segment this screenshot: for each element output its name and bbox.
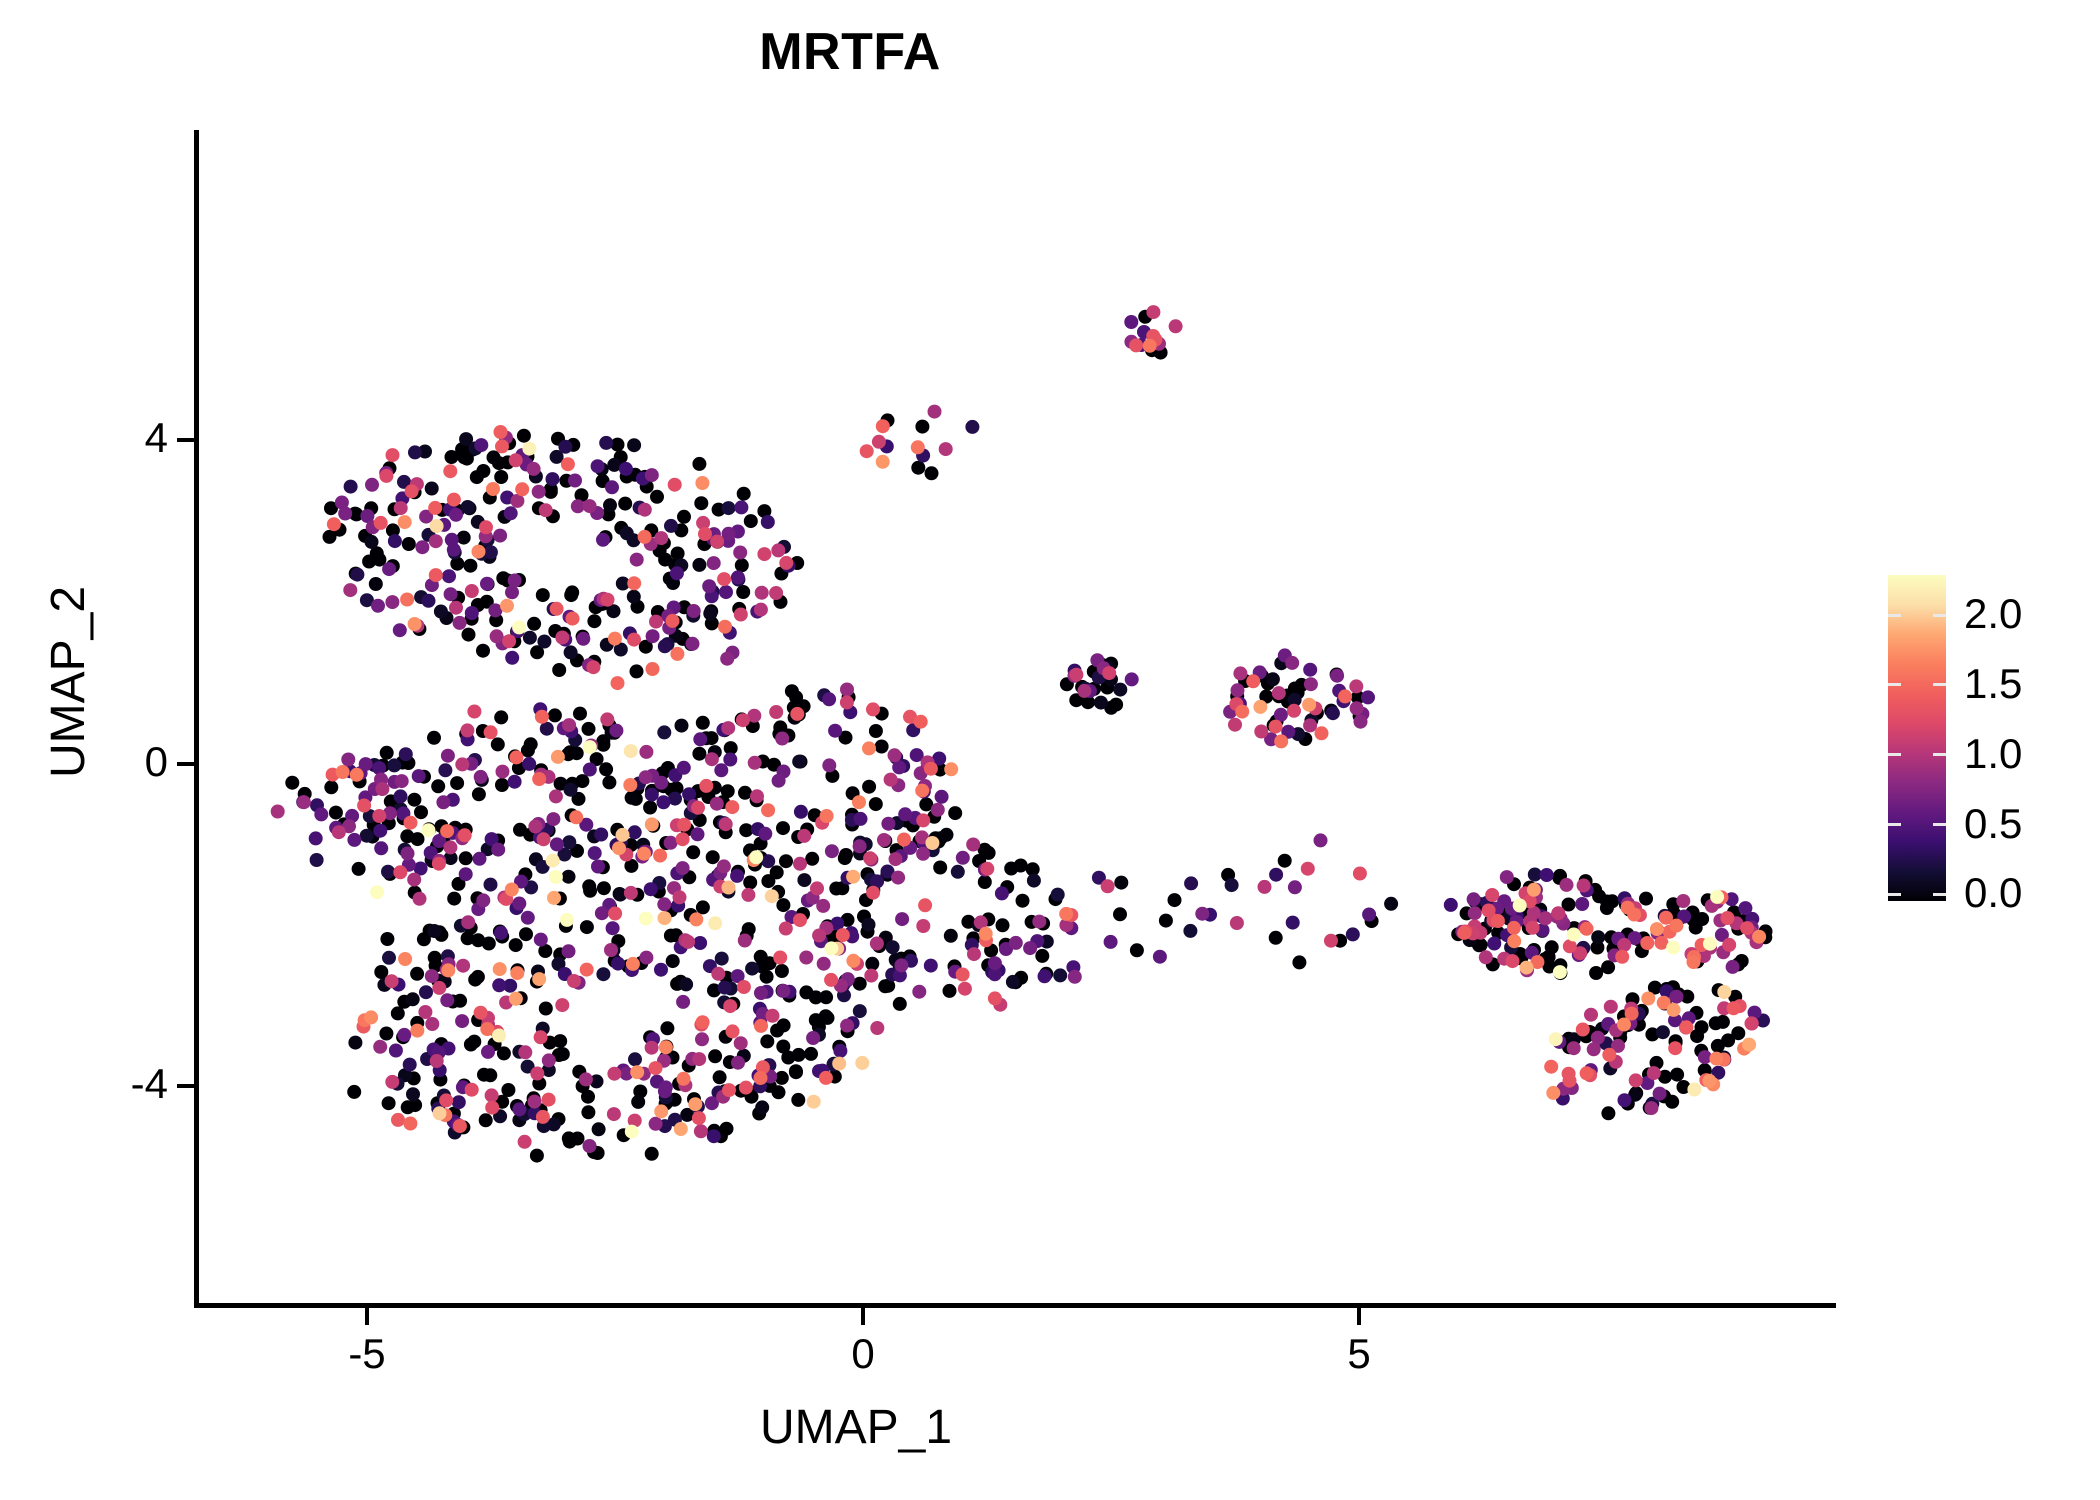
scatter-point	[638, 530, 652, 544]
scatter-point	[350, 768, 364, 782]
scatter-point	[508, 574, 522, 588]
scatter-point	[360, 829, 374, 843]
scatter-point	[443, 464, 457, 478]
scatter-point	[539, 1002, 553, 1016]
scatter-point	[596, 967, 610, 981]
scatter-point	[718, 620, 732, 634]
scatter-point	[395, 774, 409, 788]
scatter-point	[686, 637, 700, 651]
scatter-point	[522, 757, 536, 771]
scatter-point	[412, 769, 426, 783]
scatter-point	[491, 843, 505, 857]
scatter-point	[1670, 990, 1684, 1004]
scatter-point	[612, 841, 626, 855]
scatter-point	[722, 527, 736, 541]
scatter-point	[1513, 899, 1527, 913]
scatter-point	[717, 572, 731, 586]
scatter-point	[812, 929, 826, 943]
scatter-point	[1016, 894, 1030, 908]
scatter-point	[583, 499, 597, 513]
scatter-point	[754, 986, 768, 1000]
scatter-point	[455, 757, 469, 771]
scatter-point	[350, 568, 364, 582]
scatter-point	[776, 898, 790, 912]
scatter-point	[576, 632, 590, 646]
scatter-point	[493, 529, 507, 543]
scatter-point	[564, 783, 578, 797]
scatter-point	[705, 752, 719, 766]
scatter-point	[644, 882, 658, 896]
scatter-point	[457, 531, 471, 545]
x-tick-0	[861, 1308, 865, 1325]
scatter-point	[1602, 1048, 1616, 1062]
scatter-point	[1567, 1041, 1581, 1055]
scatter-point	[447, 892, 461, 906]
scatter-point	[458, 828, 472, 842]
scatter-point	[461, 500, 475, 514]
scatter-point	[1479, 950, 1493, 964]
scatter-point	[805, 852, 819, 866]
scatter-point	[555, 998, 569, 1012]
scatter-point	[1506, 954, 1520, 968]
scatter-point	[687, 604, 701, 618]
scatter-point	[535, 710, 549, 724]
scatter-point	[833, 1044, 847, 1058]
scatter-point	[519, 927, 533, 941]
scatter-point	[696, 900, 710, 914]
scatter-point	[449, 601, 463, 615]
scatter-point	[493, 962, 507, 976]
scatter-point	[573, 707, 587, 721]
scatter-point	[405, 484, 419, 498]
scatter-point	[372, 809, 386, 823]
scatter-point	[494, 710, 508, 724]
scatter-point	[866, 702, 880, 716]
scatter-point	[603, 498, 617, 512]
scatter-point	[1745, 1016, 1759, 1030]
scatter-point	[1621, 901, 1635, 915]
scatter-point	[792, 1048, 806, 1062]
scatter-point	[628, 1052, 642, 1066]
scatter-point	[931, 803, 945, 817]
scatter-point	[394, 789, 408, 803]
scatter-point	[430, 1054, 444, 1068]
scatter-point	[825, 844, 839, 858]
scatter-point	[866, 886, 880, 900]
colorbar-tick-1.0-right	[1933, 753, 1946, 756]
scatter-point	[509, 750, 523, 764]
scatter-point	[721, 721, 735, 735]
scatter-point	[564, 645, 578, 659]
scatter-point	[532, 485, 546, 499]
scatter-point	[666, 614, 680, 628]
scatter-point	[606, 921, 620, 935]
scatter-point	[853, 977, 867, 991]
scatter-point	[536, 1110, 550, 1124]
scatter-point	[863, 851, 877, 865]
scatter-point	[474, 438, 488, 452]
scatter-point	[357, 799, 371, 813]
scatter-point	[736, 713, 750, 727]
scatter-point	[1346, 927, 1360, 941]
scatter-point	[735, 558, 749, 572]
scatter-point	[1549, 1032, 1563, 1046]
scatter-point	[1068, 970, 1082, 984]
scatter-point	[527, 617, 541, 631]
scatter-point	[657, 897, 671, 911]
scatter-point	[928, 405, 942, 419]
scatter-point	[570, 746, 584, 760]
scatter-point	[391, 1113, 405, 1127]
scatter-point	[1687, 955, 1701, 969]
scatter-point	[599, 762, 613, 776]
scatter-point	[718, 981, 732, 995]
scatter-point	[1551, 906, 1565, 920]
scatter-point	[757, 547, 771, 561]
scatter-point	[1384, 897, 1398, 911]
scatter-point	[726, 1024, 740, 1038]
scatter-point	[646, 662, 660, 676]
scatter-point	[703, 607, 717, 621]
colorbar-label-1.0: 1.0	[1964, 733, 2022, 775]
scatter-point	[594, 828, 608, 842]
scatter-point	[1526, 921, 1540, 935]
scatter-point	[658, 911, 672, 925]
scatter-point	[1129, 338, 1143, 352]
scatter-point	[601, 593, 615, 607]
scatter-point	[699, 779, 713, 793]
scatter-point	[988, 991, 1002, 1005]
scatter-point	[627, 633, 641, 647]
scatter-point	[532, 772, 546, 786]
scatter-point	[710, 797, 724, 811]
scatter-point	[1006, 975, 1020, 989]
scatter-point	[717, 859, 731, 873]
scatter-point	[441, 749, 455, 763]
scatter-point	[730, 869, 744, 883]
scatter-point	[1727, 1001, 1741, 1015]
scatter-point	[631, 1095, 645, 1109]
scatter-point	[911, 461, 925, 475]
scatter-point	[492, 978, 506, 992]
scatter-point	[625, 1125, 639, 1139]
scatter-point	[720, 652, 734, 666]
scatter-point	[761, 854, 775, 868]
scatter-point	[1153, 950, 1167, 964]
scatter-point	[754, 603, 768, 617]
scatter-point	[625, 791, 639, 805]
scatter-point	[432, 981, 446, 995]
scatter-point	[1304, 677, 1318, 691]
scatter-point	[1717, 985, 1731, 999]
scatter-point	[832, 1057, 846, 1071]
scatter-point	[809, 990, 823, 1004]
scatter-point	[779, 556, 793, 570]
scatter-point	[444, 587, 458, 601]
scatter-point	[1353, 867, 1367, 881]
scatter-point	[425, 969, 439, 983]
scatter-point	[772, 774, 786, 788]
scatter-point	[496, 765, 510, 779]
scatter-point	[966, 838, 980, 852]
scatter-point	[1687, 1083, 1701, 1097]
scatter-point	[373, 1040, 387, 1054]
scatter-point	[799, 951, 813, 965]
scatter-point	[309, 831, 323, 845]
scatter-point	[374, 841, 388, 855]
scatter-point	[884, 773, 898, 787]
scatter-point	[676, 995, 690, 1009]
scatter-point	[476, 644, 490, 658]
scatter-point	[508, 775, 522, 789]
scatter-point	[731, 570, 745, 584]
scatter-point	[555, 631, 569, 645]
scatter-point	[343, 583, 357, 597]
scatter-point	[790, 707, 804, 721]
scatter-point	[760, 1034, 774, 1048]
scatter-point	[1666, 941, 1680, 955]
scatter-point	[562, 944, 576, 958]
scatter-point	[1254, 725, 1268, 739]
scatter-point	[430, 519, 444, 533]
scatter-point	[1640, 936, 1654, 950]
scatter-point	[674, 1122, 688, 1136]
scatter-point	[1527, 883, 1541, 897]
scatter-point	[677, 510, 691, 524]
scatter-point	[979, 927, 993, 941]
scatter-point	[723, 999, 737, 1013]
scatter-point	[549, 870, 563, 884]
scatter-point	[462, 628, 476, 642]
scatter-point	[840, 695, 854, 709]
scatter-point	[675, 719, 689, 733]
scatter-point	[591, 860, 605, 874]
scatter-point	[1738, 901, 1752, 915]
scatter-point	[600, 712, 614, 726]
scatter-point	[1125, 672, 1139, 686]
scatter-point	[792, 755, 806, 769]
scatter-point	[532, 972, 546, 986]
scatter-point	[467, 705, 481, 719]
scatter-point	[465, 606, 479, 620]
scatter-point	[1094, 696, 1108, 710]
scatter-point	[494, 425, 508, 439]
scatter-point	[505, 585, 519, 599]
scatter-point	[1575, 897, 1589, 911]
scatter-point	[568, 474, 582, 488]
scatter-point	[707, 556, 721, 570]
scatter-point	[285, 776, 299, 790]
scatter-point	[605, 480, 619, 494]
scatter-point	[456, 959, 470, 973]
scatter-point	[1641, 992, 1655, 1006]
scatter-point	[472, 787, 486, 801]
scatter-point	[619, 462, 633, 476]
scatter-point	[400, 593, 414, 607]
scatter-point	[484, 545, 498, 559]
scatter-point	[393, 623, 407, 637]
scatter-point	[924, 762, 938, 776]
scatter-point	[677, 818, 691, 832]
colorbar-legend: 2.0 1.5 1.0 0.5 0.0	[1888, 575, 2088, 905]
scatter-point	[745, 962, 759, 976]
y-axis-label-wrap: UMAP_2	[39, 332, 99, 1032]
scatter-point	[1278, 854, 1292, 868]
scatter-point	[1703, 937, 1717, 951]
scatter-point	[403, 1117, 417, 1131]
scatter-point	[1069, 668, 1083, 682]
scatter-point	[1577, 879, 1591, 893]
scatter-point	[891, 871, 905, 885]
scatter-point	[373, 824, 387, 838]
scatter-point	[1101, 879, 1115, 893]
scatter-points-layer	[196, 130, 1856, 1305]
scatter-point	[659, 1040, 673, 1054]
scatter-point	[359, 757, 373, 771]
scatter-point	[1742, 1038, 1756, 1052]
scatter-point	[385, 974, 399, 988]
scatter-point	[839, 848, 853, 862]
scatter-point	[1035, 949, 1049, 963]
scatter-point	[1361, 690, 1375, 704]
scatter-point	[951, 865, 965, 879]
scatter-point	[495, 778, 509, 792]
scatter-point	[381, 865, 395, 879]
scatter-point	[618, 497, 632, 511]
scatter-point	[1104, 935, 1118, 949]
scatter-point	[624, 744, 638, 758]
scatter-point	[1168, 893, 1182, 907]
scatter-point	[1676, 894, 1690, 908]
scatter-point	[707, 1129, 721, 1143]
scatter-point	[1235, 705, 1249, 719]
scatter-point	[624, 886, 638, 900]
scatter-point	[386, 448, 400, 462]
scatter-point	[739, 1081, 753, 1095]
scatter-point	[1467, 892, 1481, 906]
scatter-point	[797, 829, 811, 843]
scatter-point	[442, 569, 456, 583]
scatter-point	[846, 870, 860, 884]
scatter-point	[654, 1104, 668, 1118]
scatter-point	[889, 852, 903, 866]
scatter-point	[911, 440, 925, 454]
scatter-point	[1228, 718, 1242, 732]
scatter-point	[460, 723, 474, 737]
scatter-point	[1288, 880, 1302, 894]
scatter-point	[948, 806, 962, 820]
scatter-point	[547, 891, 561, 905]
scatter-point	[925, 836, 939, 850]
scatter-point	[744, 514, 758, 528]
scatter-point	[719, 585, 733, 599]
scatter-point	[379, 1027, 393, 1041]
scatter-point	[810, 881, 824, 895]
scatter-point	[1285, 656, 1299, 670]
scatter-point	[1589, 966, 1603, 980]
scatter-point	[657, 725, 671, 739]
scatter-point	[664, 929, 678, 943]
scatter-point	[569, 810, 583, 824]
scatter-point	[433, 1106, 447, 1120]
scatter-point	[1644, 1101, 1658, 1115]
scatter-point	[474, 770, 488, 784]
scatter-point	[881, 817, 895, 831]
scatter-point	[1618, 1093, 1632, 1107]
colorbar-label-1.5: 1.5	[1964, 663, 2022, 705]
scatter-point	[528, 820, 542, 834]
scatter-point	[755, 586, 769, 600]
scatter-point	[611, 957, 625, 971]
scatter-point	[1601, 960, 1615, 974]
scatter-point	[1721, 911, 1735, 925]
scatter-point	[338, 507, 352, 521]
scatter-point	[819, 1071, 833, 1085]
scatter-point	[582, 722, 596, 736]
scatter-point	[480, 577, 494, 591]
scatter-point	[852, 795, 866, 809]
scatter-point	[988, 956, 1002, 970]
scatter-point	[546, 854, 560, 868]
scatter-point	[509, 992, 523, 1006]
scatter-point	[1230, 916, 1244, 930]
scatter-point	[364, 1010, 378, 1024]
scatter-point	[706, 850, 720, 864]
scatter-point	[723, 753, 737, 767]
scatter-point	[1051, 888, 1065, 902]
scatter-point	[465, 1083, 479, 1097]
scatter-point	[436, 795, 450, 809]
umap-feature-plot: MRTFA 4 0 -4 -5 0 5 UMAP_1 UMAP_2 2.0 1.…	[0, 0, 2100, 1500]
scatter-point	[1059, 907, 1073, 921]
x-tick-m5	[365, 1308, 369, 1325]
scatter-point	[754, 1071, 768, 1085]
colorbar-tick-2.0-right	[1933, 614, 1946, 617]
scatter-point	[660, 1021, 674, 1035]
scatter-point	[521, 911, 535, 925]
scatter-point	[939, 442, 953, 456]
scatter-point	[715, 952, 729, 966]
scatter-point	[1716, 1015, 1730, 1029]
scatter-point	[596, 738, 610, 752]
scatter-point	[1014, 859, 1028, 873]
scatter-point	[1130, 943, 1144, 957]
scatter-point	[314, 807, 328, 821]
scatter-point	[1272, 686, 1286, 700]
scatter-point	[484, 725, 498, 739]
scatter-point	[1752, 930, 1766, 944]
scatter-point	[1258, 880, 1272, 894]
scatter-point	[371, 599, 385, 613]
scatter-point	[1113, 907, 1127, 921]
scatter-point	[627, 590, 641, 604]
scatter-point	[714, 763, 728, 777]
scatter-point	[566, 612, 580, 626]
scatter-point	[611, 676, 625, 690]
scatter-point	[854, 812, 868, 826]
colorbar-tick-0.0-right	[1933, 893, 1946, 896]
x-ticklabel-5: 5	[1279, 1333, 1439, 1375]
scatter-point	[776, 1040, 790, 1054]
scatter-point	[449, 508, 463, 522]
scatter-point	[1584, 1008, 1598, 1022]
scatter-point	[407, 873, 421, 887]
scatter-point	[692, 457, 706, 471]
scatter-point	[996, 918, 1010, 932]
scatter-point	[933, 861, 947, 875]
scatter-point	[654, 531, 668, 545]
scatter-point	[1274, 734, 1288, 748]
